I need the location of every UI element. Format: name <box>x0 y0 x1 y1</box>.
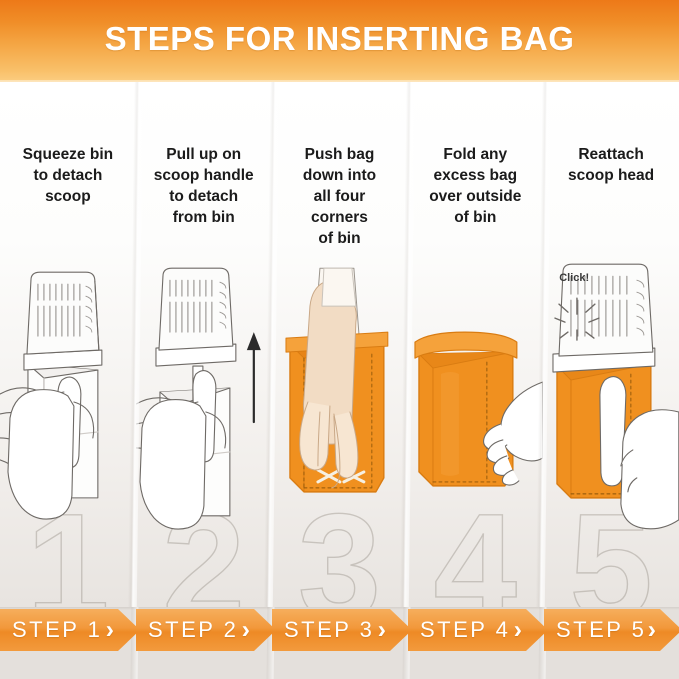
step-ribbon-label-1: STEP 1 <box>12 617 102 643</box>
steps-body: Squeeze binto detachscoop 1 <box>0 82 679 607</box>
page-title: STEPS FOR INSERTING BAG <box>105 20 575 58</box>
step-ribbon-4[interactable]: STEP 4 › <box>408 609 548 651</box>
chevron-right-icon: › <box>378 618 386 643</box>
step-ribbon-label-3: STEP 3 <box>284 617 374 643</box>
step-ribbon-label-5: STEP 5 <box>556 617 646 643</box>
header-banner: STEPS FOR INSERTING BAG <box>0 0 679 80</box>
chevron-right-icon: › <box>648 618 656 643</box>
instruction-sheet: STEPS FOR INSERTING BAG Squeeze binto de… <box>0 0 679 679</box>
step-caption-3: Push bagdown intoall fourcornersof bin <box>272 144 408 249</box>
step-caption-1: Squeeze binto detachscoop <box>0 144 136 207</box>
footer-step-bar: STEP 1 › STEP 2 › STEP 3 › STEP 4 › STEP… <box>0 607 679 679</box>
chevron-right-icon: › <box>242 618 250 643</box>
step-illustration-1 <box>0 262 136 552</box>
step-ribbon-label-2: STEP 2 <box>148 617 238 643</box>
click-annotation: Click! <box>559 272 589 284</box>
step-illustration-5: Click! <box>543 262 679 552</box>
step-panel-1: Squeeze binto detachscoop 1 <box>0 82 136 607</box>
step-illustration-4 <box>407 262 543 552</box>
chevron-right-icon: › <box>514 618 522 643</box>
step-ribbon-5[interactable]: STEP 5 › <box>544 609 679 651</box>
step-ribbon-label-4: STEP 4 <box>420 617 510 643</box>
step-panel-5: Reattachscoop head 5 <box>543 82 679 607</box>
step-ribbon-2[interactable]: STEP 2 › <box>136 609 276 651</box>
step-illustration-2 <box>136 262 272 552</box>
step-caption-2: Pull up onscoop handleto detachfrom bin <box>136 144 272 228</box>
step-panel-2: Pull up onscoop handleto detachfrom bin … <box>136 82 272 607</box>
step-caption-4: Fold anyexcess bagover outsideof bin <box>407 144 543 228</box>
step-ribbon-row: STEP 1 › STEP 2 › STEP 3 › STEP 4 › STEP… <box>0 607 679 679</box>
step-panel-3: Push bagdown intoall fourcornersof bin 3 <box>272 82 408 607</box>
step-illustration-3 <box>272 262 408 552</box>
step-ribbon-3[interactable]: STEP 3 › <box>272 609 412 651</box>
step-caption-5: Reattachscoop head <box>543 144 679 186</box>
steps-panel-row: Squeeze binto detachscoop 1 <box>0 82 679 607</box>
chevron-right-icon: › <box>106 618 114 643</box>
step-ribbon-1[interactable]: STEP 1 › <box>0 609 140 651</box>
step-panel-4: Fold anyexcess bagover outsideof bin 4 <box>407 82 543 607</box>
